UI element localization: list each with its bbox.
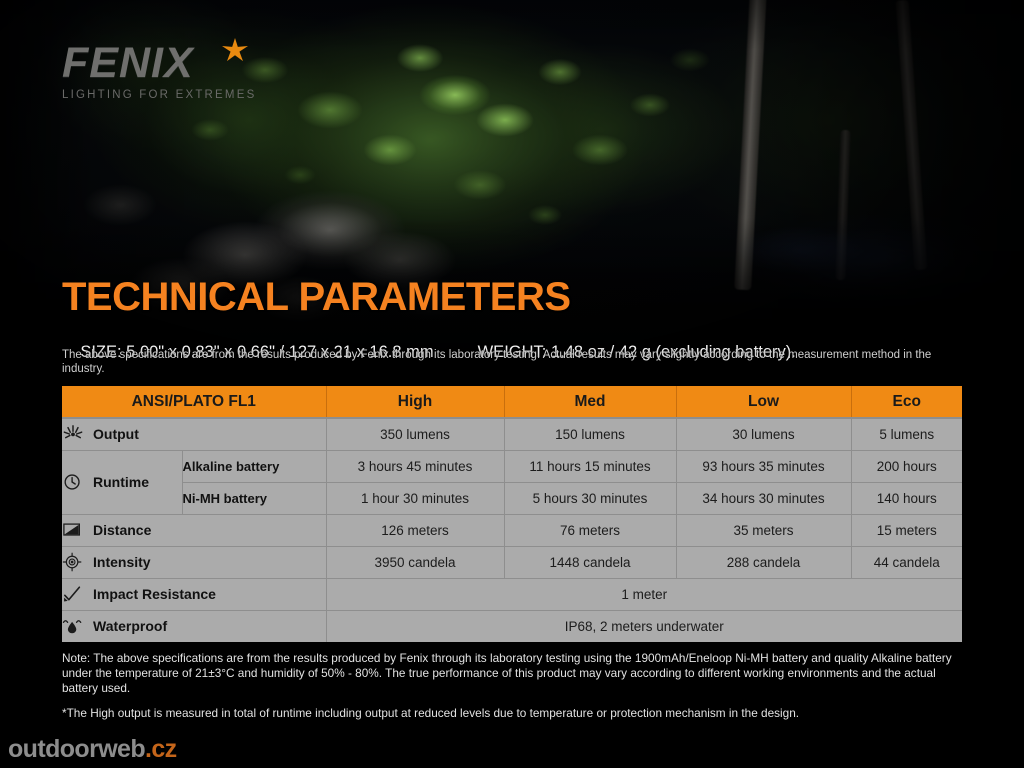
table-row-runtime-alkaline: Runtime Alkaline battery 3 hours 45 minu… [62,450,962,482]
cell-impact-resistance-all: 1 meter [326,578,962,610]
cell-output-med: 150 lumens [504,418,676,450]
column-header-high: High [326,386,504,418]
cell-alkaline-low: 93 hours 35 minutes [676,450,851,482]
cell-intensity-med: 1448 candela [504,546,676,578]
cell-distance-high: 126 meters [326,514,504,546]
table-row-runtime-nimh: Ni-MH battery 1 hour 30 minutes 5 hours … [62,482,962,514]
row-label-text: Intensity [93,554,151,570]
footnote-asterisk: *The High output is measured in total of… [62,706,964,721]
cell-nimh-med: 5 hours 30 minutes [504,482,676,514]
row-label-waterproof: Waterproof [62,610,326,642]
outdoorweb-watermark: outdoorweb.cz [8,734,177,764]
target-intensity-icon [62,552,84,572]
footer-bar: outdoorweb.cz [0,730,1024,768]
row-label-impact-resistance: Impact Resistance [62,578,326,610]
technical-parameters-table: ANSI/PLATO FL1 High Med Low Eco [62,386,962,642]
page-title: TECHNICAL PARAMETERS [62,277,571,317]
cell-distance-eco: 15 meters [851,514,962,546]
cell-intensity-eco: 44 candela [851,546,962,578]
watermark-tld: .cz [145,735,177,763]
cell-nimh-high: 1 hour 30 minutes [326,482,504,514]
cell-nimh-eco: 140 hours [851,482,962,514]
row-label-output: Output [62,418,326,450]
row-label-text: Impact Resistance [93,586,216,602]
row-label-text: Distance [93,522,151,538]
cell-distance-low: 35 meters [676,514,851,546]
column-header-ansi: ANSI/PLATO FL1 [62,386,326,418]
watermark-main: outdoorweb [8,735,145,763]
cell-distance-med: 76 meters [504,514,676,546]
column-header-med: Med [504,386,676,418]
cell-intensity-high: 3950 candela [326,546,504,578]
table-row-impact-resistance: Impact Resistance 1 meter [62,578,962,610]
table-row-waterproof: Waterproof IP68, 2 meters underwater [62,610,962,642]
brand-tagline: LIGHTING FOR EXTREMES [62,89,282,101]
cell-nimh-low: 34 hours 30 minutes [676,482,851,514]
cell-alkaline-med: 11 hours 15 minutes [504,450,676,482]
row-sublabel-nimh: Ni-MH battery [182,482,326,514]
cell-waterproof-all: IP68, 2 meters underwater [326,610,962,642]
table-header-row: ANSI/PLATO FL1 High Med Low Eco [62,386,962,418]
beam-distance-icon [62,520,84,540]
column-header-eco: Eco [851,386,962,418]
cell-alkaline-high: 3 hours 45 minutes [326,450,504,482]
footnote-primary: Note: The above specifications are from … [62,651,964,696]
cell-output-low: 30 lumens [676,418,851,450]
table-row-intensity: Intensity 3950 candela 1448 candela 288 … [62,546,962,578]
impact-check-icon [62,584,84,604]
column-header-low: Low [676,386,851,418]
cell-output-high: 350 lumens [326,418,504,450]
row-label-text: Runtime [93,474,149,490]
row-label-intensity: Intensity [62,546,326,578]
brand-name: FENIX [62,42,282,85]
row-label-distance: Distance [62,514,326,546]
row-label-text: Output [93,426,139,442]
row-label-text: Waterproof [93,618,167,634]
waterproof-drop-icon [62,616,84,636]
clock-icon [62,472,84,492]
table-row-output: Output 350 lumens 150 lumens 30 lumens 5… [62,418,962,450]
cell-alkaline-eco: 200 hours [851,450,962,482]
row-sublabel-alkaline: Alkaline battery [182,450,326,482]
star-icon [222,38,248,64]
spec-disclaimer: The above specifications are from the re… [62,349,964,376]
cell-intensity-low: 288 candela [676,546,851,578]
cell-output-eco: 5 lumens [851,418,962,450]
table-row-distance: Distance 126 meters 76 meters 35 meters … [62,514,962,546]
row-label-runtime: Runtime [62,450,182,514]
fenix-logo: FENIX LIGHTING FOR EXTREMES [62,42,282,104]
light-burst-icon [62,424,84,444]
